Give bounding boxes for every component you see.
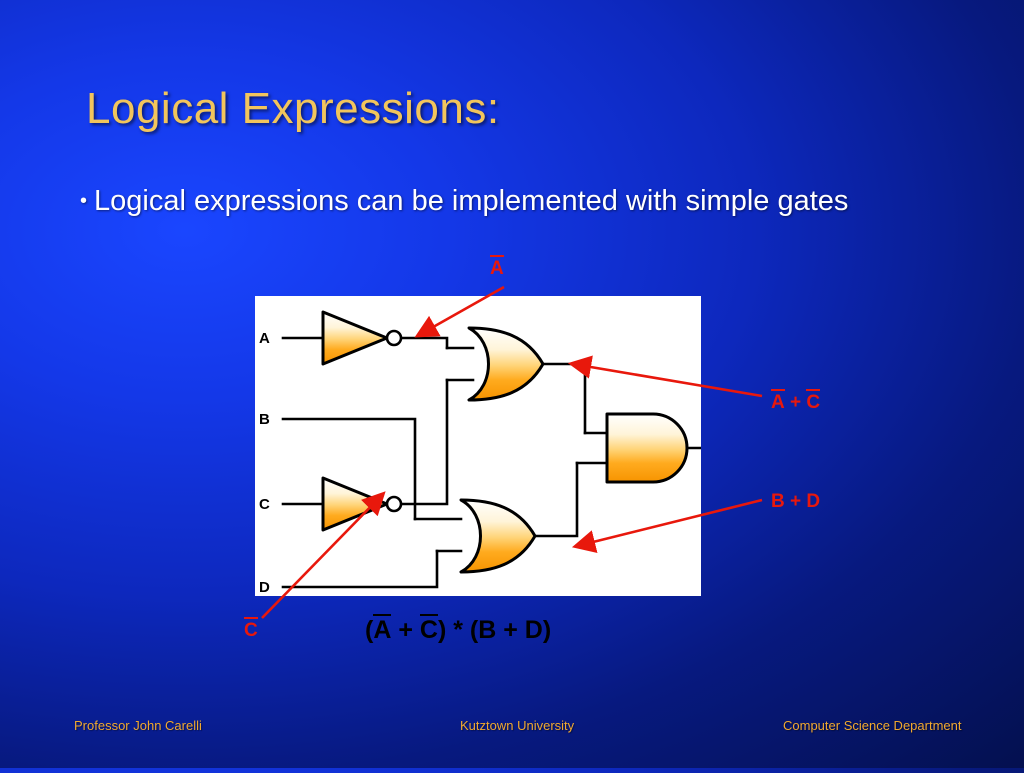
annotation-c-bar-text: C (244, 620, 258, 642)
formula-open-paren: ( (365, 616, 373, 644)
or-gate-bottom (461, 500, 535, 572)
wire-cbar-up (401, 380, 447, 504)
circuit-input-label-c: C (259, 496, 270, 513)
bullet-paragraph: •Logical expressions can be implemented … (80, 180, 880, 222)
circuit-input-label-d: D (259, 579, 270, 596)
not-gate-a (323, 312, 401, 364)
circuit-formula: (A + C) * (B + D) (365, 616, 551, 645)
wire-abar-to-or (401, 338, 447, 348)
annotation-or-top-a: A (771, 392, 785, 414)
footer-author: Professor John Carelli (74, 718, 202, 733)
formula-b-plus-d: (B + D) (470, 616, 551, 644)
wire-ortop-out (543, 364, 585, 433)
bullet-marker: • (80, 187, 94, 215)
slide-footer: Professor John Carelli Kutztown Universi… (0, 718, 1024, 738)
bullet-text: Logical expressions can be implemented w… (94, 181, 848, 222)
and-gate-output (607, 414, 687, 482)
formula-plus: + (391, 616, 420, 644)
circuit-input-label-a: A (259, 330, 270, 347)
wire-orbot-out (535, 463, 577, 536)
annotation-or-top-plus: + (785, 392, 807, 413)
circuit-input-label-b: B (259, 411, 270, 428)
annotation-b-plus-d: B + D (771, 491, 820, 513)
annotation-or-top-c: C (806, 392, 820, 414)
footer-department: Computer Science Department (783, 718, 961, 733)
slide: Logical Expressions: •Logical expression… (0, 0, 1024, 768)
formula-a-bar: A (373, 616, 391, 645)
page-title: Logical Expressions: (86, 84, 500, 134)
not-gate-c (323, 478, 401, 530)
or-gate-top (469, 328, 543, 400)
annotation-or-top: A + C (771, 392, 820, 414)
annotation-a-bar-text: A (490, 258, 504, 280)
formula-times: * (446, 616, 470, 644)
circuit-diagram-canvas: A B C D (255, 296, 701, 596)
formula-c-bar: C (420, 616, 438, 645)
annotation-c-bar: C (244, 620, 258, 642)
footer-institution: Kutztown University (460, 718, 574, 733)
annotation-a-bar: A (490, 258, 504, 280)
wire-input-d (283, 551, 437, 587)
